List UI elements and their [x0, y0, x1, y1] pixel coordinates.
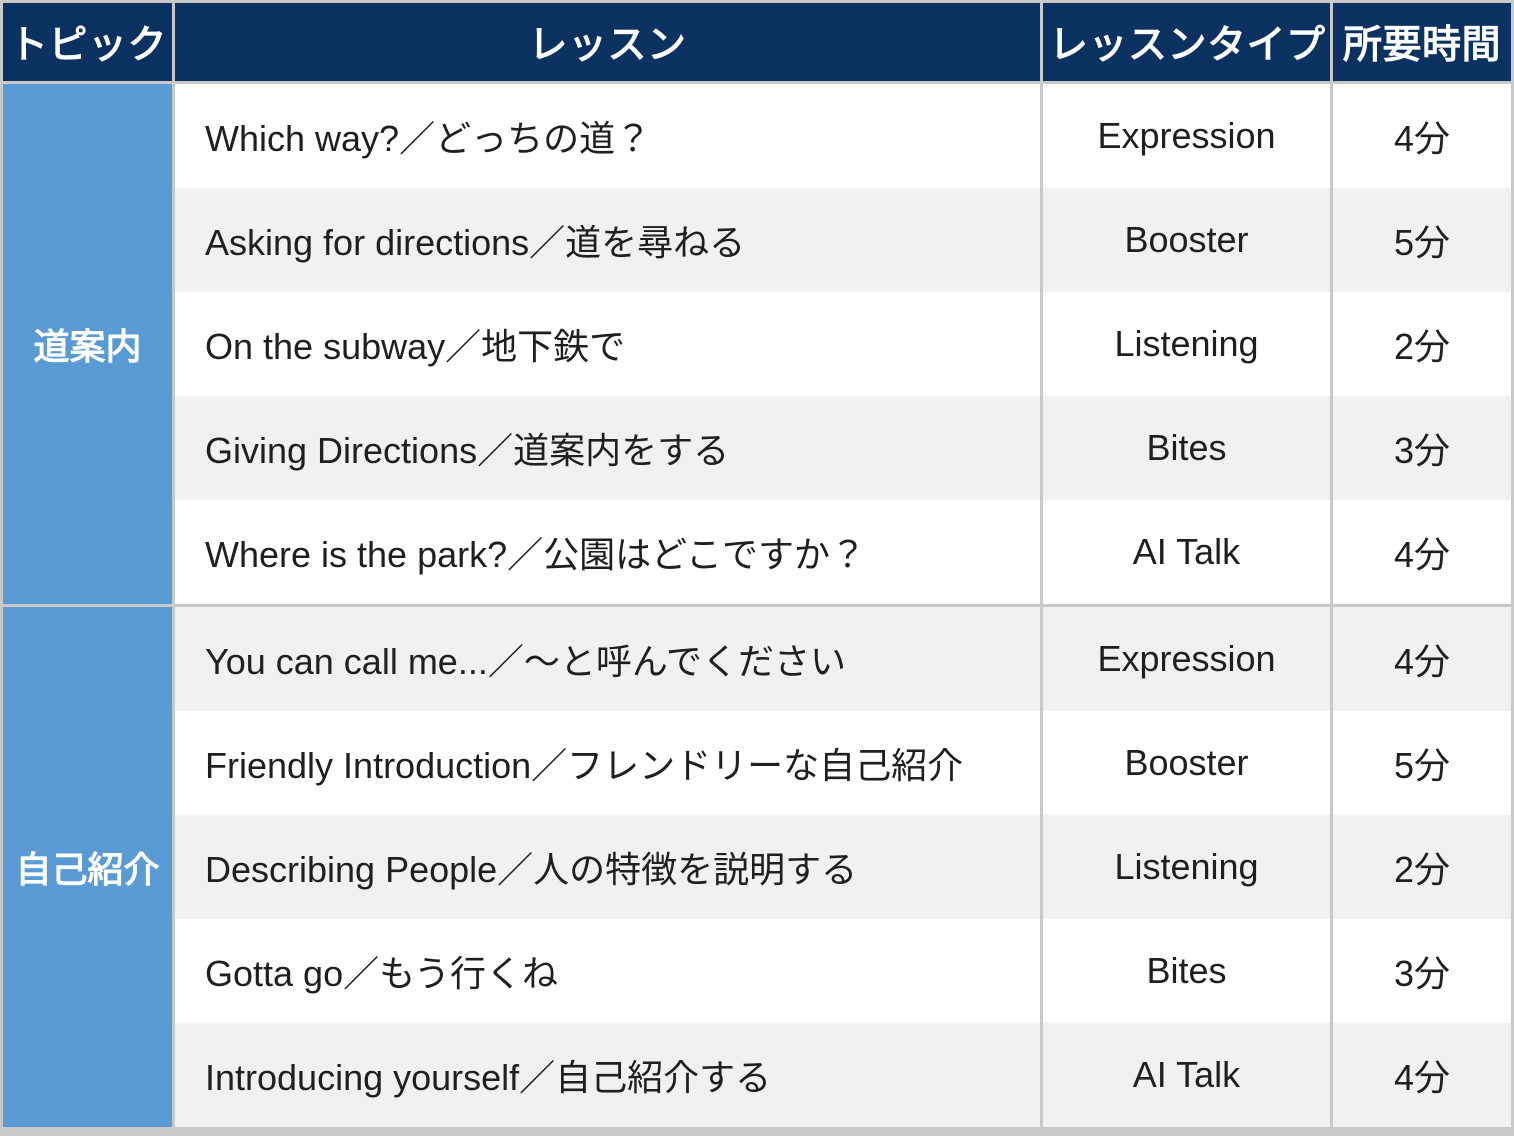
table-header: トピック レッスン レッスンタイプ 所要時間 — [3, 3, 1511, 84]
lesson-name-cell[interactable]: Describing People／人の特徴を説明する — [175, 815, 1043, 919]
topic-cell: 自己紹介 — [3, 604, 175, 1127]
duration-cell: 3分 — [1333, 396, 1511, 500]
table-body: 道案内Which way?／どっちの道？Expression4分Asking f… — [3, 84, 1511, 1127]
lesson-name-cell[interactable]: Which way?／どっちの道？ — [175, 84, 1043, 188]
lesson-type-cell: Listening — [1043, 815, 1333, 919]
lesson-name-cell[interactable]: Asking for directions／道を尋ねる — [175, 188, 1043, 292]
table-row[interactable]: On the subway／地下鉄でListening2分 — [3, 292, 1511, 396]
table-row[interactable]: Giving Directions／道案内をするBites3分 — [3, 396, 1511, 500]
table-header-row: トピック レッスン レッスンタイプ 所要時間 — [3, 3, 1511, 84]
duration-cell: 3分 — [1333, 919, 1511, 1023]
column-header-lesson-type: レッスンタイプ — [1043, 3, 1333, 84]
lesson-name-cell[interactable]: You can call me...／〜と呼んでください — [175, 604, 1043, 711]
column-header-duration: 所要時間 — [1333, 3, 1511, 84]
lesson-type-cell: Bites — [1043, 396, 1333, 500]
lesson-type-cell: Expression — [1043, 84, 1333, 188]
duration-cell: 4分 — [1333, 1023, 1511, 1127]
lesson-table-frame: トピック レッスン レッスンタイプ 所要時間 道案内Which way?／どっち… — [0, 0, 1514, 1136]
lesson-type-cell: Expression — [1043, 604, 1333, 711]
table-row[interactable]: 道案内Which way?／どっちの道？Expression4分 — [3, 84, 1511, 188]
lesson-table: トピック レッスン レッスンタイプ 所要時間 道案内Which way?／どっち… — [3, 3, 1511, 1127]
table-row[interactable]: Gotta go／もう行くねBites3分 — [3, 919, 1511, 1023]
lesson-name-cell[interactable]: Friendly Introduction／フレンドリーな自己紹介 — [175, 711, 1043, 815]
lesson-name-cell[interactable]: Where is the park?／公園はどこですか？ — [175, 500, 1043, 604]
lesson-type-cell: Listening — [1043, 292, 1333, 396]
lesson-type-cell: AI Talk — [1043, 1023, 1333, 1127]
duration-cell: 2分 — [1333, 292, 1511, 396]
lesson-name-cell[interactable]: Gotta go／もう行くね — [175, 919, 1043, 1023]
lesson-type-cell: Booster — [1043, 188, 1333, 292]
lesson-name-cell[interactable]: Giving Directions／道案内をする — [175, 396, 1043, 500]
duration-cell: 4分 — [1333, 84, 1511, 188]
table-row[interactable]: Friendly Introduction／フレンドリーな自己紹介Booster… — [3, 711, 1511, 815]
lesson-name-cell[interactable]: Introducing yourself／自己紹介する — [175, 1023, 1043, 1127]
duration-cell: 2分 — [1333, 815, 1511, 919]
column-header-topic: トピック — [3, 3, 175, 84]
table-row[interactable]: Asking for directions／道を尋ねるBooster5分 — [3, 188, 1511, 292]
lesson-type-cell: Bites — [1043, 919, 1333, 1023]
topic-cell: 道案内 — [3, 84, 175, 604]
duration-cell: 5分 — [1333, 188, 1511, 292]
table-row[interactable]: 自己紹介You can call me...／〜と呼んでくださいExpressi… — [3, 604, 1511, 711]
table-row[interactable]: Describing People／人の特徴を説明するListening2分 — [3, 815, 1511, 919]
lesson-type-cell: Booster — [1043, 711, 1333, 815]
duration-cell: 4分 — [1333, 604, 1511, 711]
duration-cell: 4分 — [1333, 500, 1511, 604]
column-header-lesson: レッスン — [175, 3, 1043, 84]
table-row[interactable]: Where is the park?／公園はどこですか？AI Talk4分 — [3, 500, 1511, 604]
lesson-type-cell: AI Talk — [1043, 500, 1333, 604]
table-row[interactable]: Introducing yourself／自己紹介するAI Talk4分 — [3, 1023, 1511, 1127]
lesson-name-cell[interactable]: On the subway／地下鉄で — [175, 292, 1043, 396]
duration-cell: 5分 — [1333, 711, 1511, 815]
